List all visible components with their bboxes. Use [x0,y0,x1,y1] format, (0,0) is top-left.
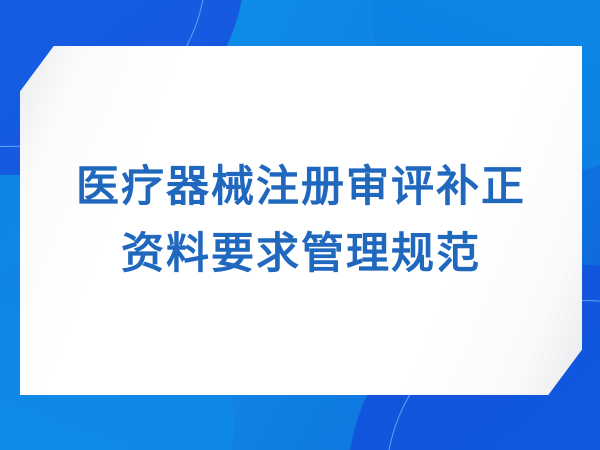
title-card: 医疗器械注册审评补正 资料要求管理规范 [20,46,582,395]
title-line-1: 医疗器械注册审评补正 [76,166,526,209]
title-line-2: 资料要求管理规范 [76,233,526,276]
page-title: 医疗器械注册审评补正 资料要求管理规范 [76,166,526,276]
title-poster: 医疗器械注册审评补正 资料要求管理规范 [0,0,600,450]
